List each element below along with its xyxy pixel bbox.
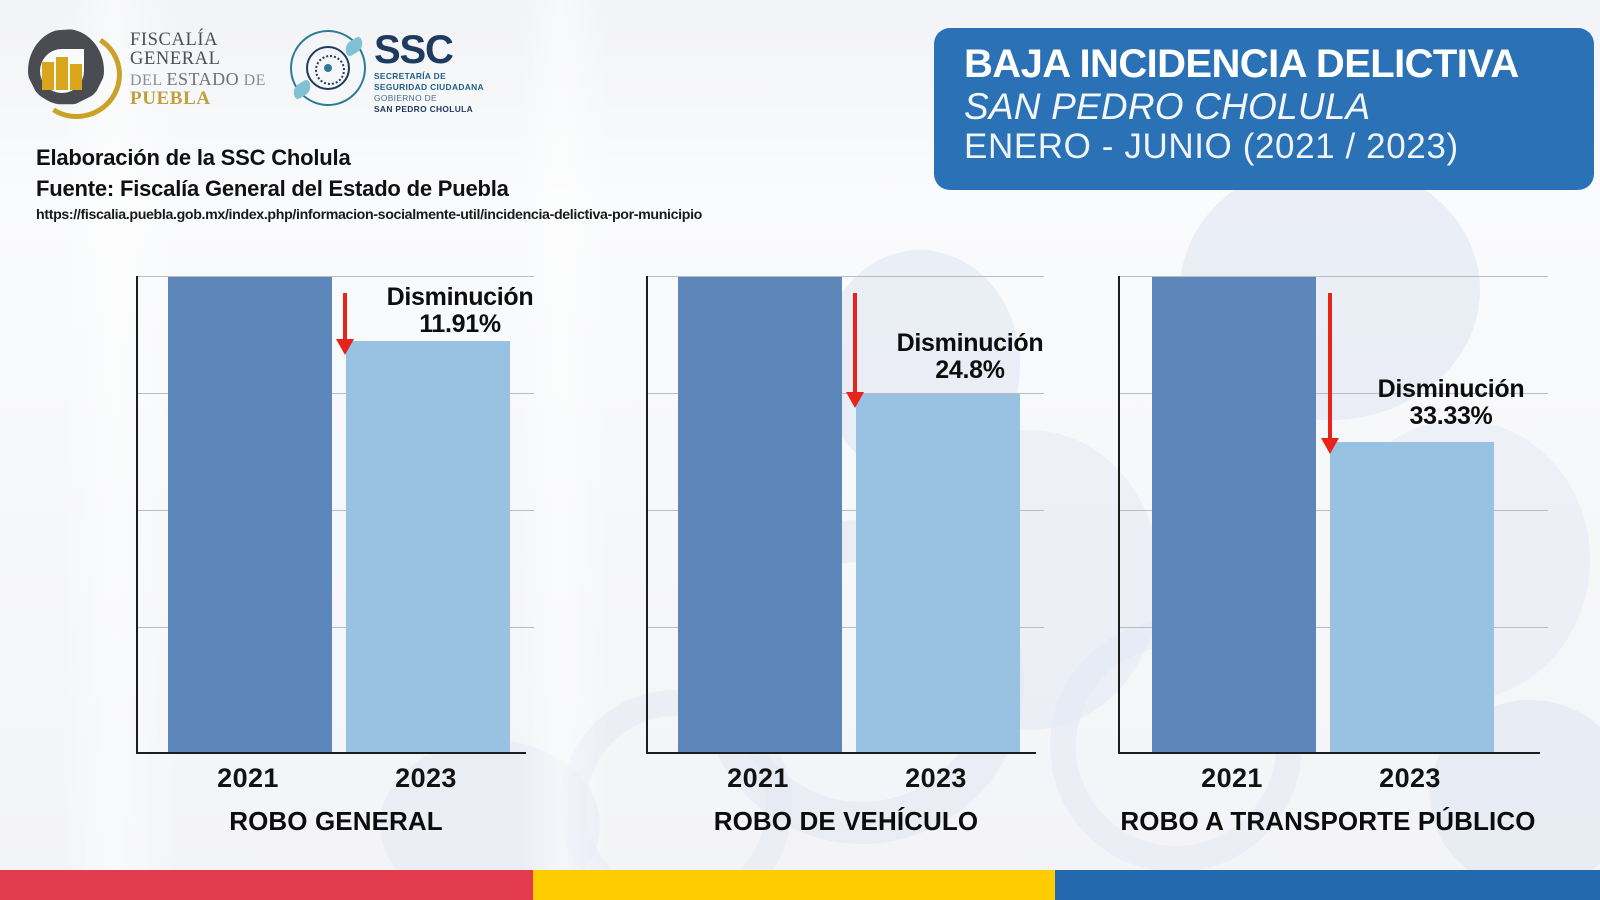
fiscalia-line2-del: DEL (130, 72, 162, 89)
fiscalia-line3: PUEBLA (130, 89, 296, 109)
source-url: https://fiscalia.puebla.gob.mx/index.php… (36, 207, 702, 223)
ssc-sub-line3: GOBIERNO DE (374, 93, 484, 104)
chart-robo-transporte: Disminución 33.33% 2021 2023 ROBO A TRAN… (1118, 258, 1558, 828)
fiscalia-line1: FISCALÍA GENERAL (130, 31, 296, 69)
header: FISCALÍA GENERAL DEL ESTADO DE PUEBLA SS… (0, 0, 1600, 240)
fiscalia-line2-estado: ESTADO (167, 69, 240, 89)
bar-2021 (168, 277, 332, 752)
callout-percent: 11.91% (360, 311, 560, 338)
banner-subtitle: SAN PEDRO CHOLULA (964, 86, 1568, 127)
ssc-sub-line1: SECRETARÍA DE (374, 71, 484, 82)
callout-label: Disminución (387, 283, 534, 311)
plot-area (136, 276, 526, 754)
xtick-2021: 2021 (166, 763, 330, 794)
callout-robo-vehiculo: Disminución 24.8% (870, 330, 1070, 384)
charts-area: Disminución 11.91% 2021 2023 ROBO GENERA… (0, 258, 1600, 828)
callout-label: Disminución (897, 329, 1044, 357)
flower-icon (306, 46, 350, 90)
bar-2023 (856, 394, 1020, 752)
chart-robo-vehiculo: Disminución 24.8% 2021 2023 ROBO DE VEHÍ… (646, 258, 1046, 828)
source-elaboration: Elaboración de la SSC Cholula (36, 142, 702, 173)
ssc-sub-line4: SAN PEDRO CHOLULA (374, 104, 484, 115)
footer-segment-blue (1055, 870, 1600, 900)
ssc-emblem-icon (288, 28, 368, 108)
bar-2021 (1152, 277, 1316, 752)
bar-2023 (1330, 442, 1494, 752)
footer-segment-yellow (533, 870, 1055, 900)
decrease-arrow-icon (1328, 293, 1332, 439)
chart-title-robo-vehiculo: ROBO DE VEHÍCULO (626, 806, 1066, 837)
title-banner: BAJA INCIDENCIA DELICTIVA SAN PEDRO CHOL… (934, 28, 1594, 190)
ssc-acronym: SSC (374, 32, 484, 68)
chart-title-robo-transporte: ROBO A TRANSPORTE PÚBLICO (1018, 806, 1600, 837)
family-group-icon (42, 57, 82, 90)
bar-2023 (346, 341, 510, 752)
callout-percent: 33.33% (1346, 403, 1556, 430)
xtick-2023: 2023 (854, 763, 1018, 794)
banner-period: ENERO - JUNIO (2021 / 2023) (964, 127, 1568, 166)
callout-percent: 24.8% (870, 357, 1070, 384)
ssc-logo: SSC SECRETARÍA DE SEGURIDAD CIUDADANA GO… (288, 28, 488, 136)
xtick-2023: 2023 (1328, 763, 1492, 794)
decrease-arrow-icon (853, 293, 857, 393)
fiscalia-line2-de: DE (244, 72, 266, 89)
xtick-2021: 2021 (676, 763, 840, 794)
footer-color-bar (0, 870, 1600, 900)
banner-title: BAJA INCIDENCIA DELICTIVA (964, 44, 1568, 86)
ssc-sub-line2: SEGURIDAD CIUDADANA (374, 82, 484, 93)
xtick-2023: 2023 (344, 763, 508, 794)
chart-robo-general: Disminución 11.91% 2021 2023 ROBO GENERA… (136, 258, 536, 828)
source-origin: Fuente: Fiscalía General del Estado de P… (36, 173, 702, 204)
eagle-emblem-icon (28, 27, 120, 113)
bar-2021 (678, 277, 842, 752)
source-block: Elaboración de la SSC Cholula Fuente: Fi… (36, 142, 702, 223)
callout-robo-general: Disminución 11.91% (360, 284, 560, 338)
plot-area (1118, 276, 1540, 754)
callout-robo-transporte: Disminución 33.33% (1346, 376, 1556, 430)
footer-segment-red (0, 870, 533, 900)
fiscalia-logo: FISCALÍA GENERAL DEL ESTADO DE PUEBLA (28, 26, 296, 114)
chart-title-robo-general: ROBO GENERAL (116, 806, 556, 837)
xtick-2021: 2021 (1150, 763, 1314, 794)
decrease-arrow-icon (343, 293, 347, 340)
callout-label: Disminución (1378, 375, 1525, 403)
